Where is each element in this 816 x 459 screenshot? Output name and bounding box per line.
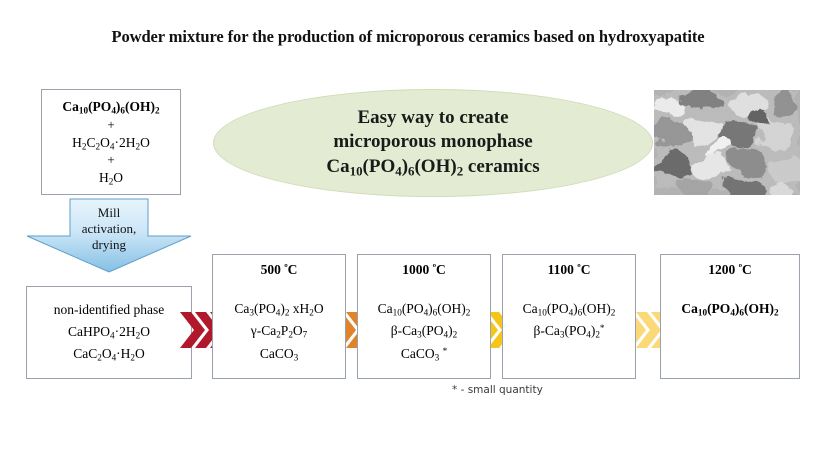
reagent-line-3: H2O (42, 168, 180, 189)
stage-1100c-box: 1100 ºC Ca10(PO4)6(OH)2 β-Ca3(PO4)2* (502, 254, 636, 379)
reagent-plus-2: + (42, 153, 180, 168)
stage-1200c-phases: Ca10(PO4)6(OH)2 (661, 298, 799, 320)
ellipse-line-3: Ca10(PO4)6(OH)2 ceramics (326, 155, 539, 180)
key-message-ellipse: Easy way to create microporous monophase… (213, 89, 653, 197)
starting-powder-mixture-box: Ca10(PO4)6(OH)2 + H2C2O4·2H2O + H2O (41, 89, 181, 195)
stage-1200c-phase-1: Ca10(PO4)6(OH)2 (661, 298, 799, 320)
stage-500c-phase-2: γ-Ca2P2O7 (213, 320, 345, 342)
stage-1200c-temperature: 1200 ºC (661, 262, 799, 278)
stage-500c-temperature: 500 ºC (213, 262, 345, 278)
stage-500c-phase-3: CaCO3 (213, 343, 345, 365)
phase-line-2: CaHPO4·2H2O (27, 321, 191, 343)
sem-micrograph (654, 90, 800, 195)
reagent-line-2: H2C2O4·2H2O (42, 133, 180, 154)
footnote-small-quantity: * - small quantity (452, 384, 543, 396)
ellipse-line-1: Easy way to create (357, 106, 508, 130)
mill-activation-arrow: Mill activation, drying (26, 198, 192, 273)
diagram-canvas: Powder mixture for the production of mic… (0, 0, 816, 459)
stage-1100c-phases: Ca10(PO4)6(OH)2 β-Ca3(PO4)2* (503, 298, 635, 343)
reagent-plus-1: + (42, 118, 180, 133)
stage-1000c-phases: Ca10(PO4)6(OH)2 β-Ca3(PO4)2 CaCO3 * (358, 298, 490, 365)
phase-line-1: non-identified phase (27, 299, 191, 321)
mill-label-line-1: Mill (26, 205, 192, 221)
stage-1000c-phase-2: β-Ca3(PO4)2 (358, 320, 490, 342)
stage-500c-phase-1: Ca3(PO4)2 xH2O (213, 298, 345, 320)
ellipse-line-2: microporous monophase (333, 130, 532, 154)
page-title: Powder mixture for the production of mic… (0, 27, 816, 47)
stage-500c-phases: Ca3(PO4)2 xH2O γ-Ca2P2O7 CaCO3 (213, 298, 345, 365)
phase-line-3: CaC2O4·H2O (27, 343, 191, 365)
milled-product-phases-box: non-identified phase CaHPO4·2H2O CaC2O4·… (26, 286, 192, 379)
mill-label-line-2: activation, (26, 221, 192, 237)
stage-1100c-phase-1: Ca10(PO4)6(OH)2 (503, 298, 635, 320)
stage-1000c-phase-3: CaCO3 * (358, 343, 490, 365)
stage-1100c-temperature: 1100 ºC (503, 262, 635, 278)
reagent-line-1: Ca10(PO4)6(OH)2 (42, 97, 180, 118)
stage-1200c-box: 1200 ºC Ca10(PO4)6(OH)2 (660, 254, 800, 379)
stage-1000c-box: 1000 ºC Ca10(PO4)6(OH)2 β-Ca3(PO4)2 CaCO… (357, 254, 491, 379)
stage-1100c-phase-2: β-Ca3(PO4)2* (503, 320, 635, 342)
stage-500c-box: 500 ºC Ca3(PO4)2 xH2O γ-Ca2P2O7 CaCO3 (212, 254, 346, 379)
mill-activation-label: Mill activation, drying (26, 205, 192, 253)
stage-1000c-phase-1: Ca10(PO4)6(OH)2 (358, 298, 490, 320)
stage-1000c-temperature: 1000 ºC (358, 262, 490, 278)
mill-label-line-3: drying (26, 237, 192, 253)
